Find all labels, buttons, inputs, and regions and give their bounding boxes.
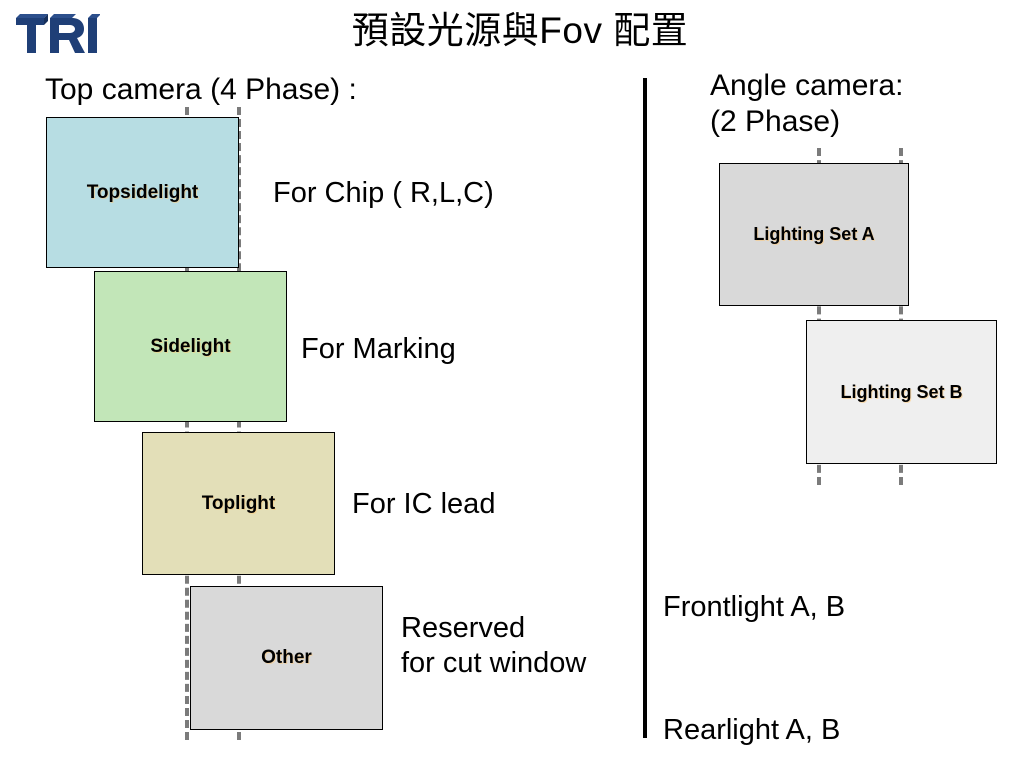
lightbox-topsidelight[interactable]: Topsidelight [46,117,239,268]
annotation-reserved-for-cut-window: Reserved for cut window [401,611,586,681]
column-divider [643,78,647,738]
tri-logo [14,12,100,60]
lightbox-lighting-set-b[interactable]: Lighting Set B [806,320,997,464]
top-camera-heading: Top camera (4 Phase) : [45,72,357,108]
lightbox-label: Other [261,647,312,669]
angle-camera-heading: Angle camera: (2 Phase) [710,68,903,140]
tri-logo-icon [14,12,100,60]
lightbox-label: Toplight [202,493,276,515]
lightbox-lighting-set-a[interactable]: Lighting Set A [719,163,909,306]
lightbox-label: Lighting Set B [841,382,963,403]
light-list-item: Rearlight A, B [663,710,939,751]
angle-camera-light-list: Frontlight A, B Rearlight A, B Leftlight… [663,505,939,767]
annotation-for-chip: For Chip ( R,L,C) [273,176,494,211]
lightbox-toplight[interactable]: Toplight [142,432,335,575]
lightbox-label: Topsidelight [87,182,199,204]
lightbox-sidelight[interactable]: Sidelight [94,271,287,422]
annotation-for-ic-lead: For IC lead [352,487,495,522]
light-list-item: Frontlight A, B [663,587,939,628]
lightbox-label: Lighting Set A [753,224,874,245]
lightbox-other[interactable]: Other [190,586,383,730]
page-title: 預設光源與Fov 配置 [290,8,750,54]
annotation-for-marking: For Marking [301,332,456,367]
slide-canvas: 預設光源與Fov 配置 Top camera (4 Phase) : Angle… [0,0,1026,767]
lightbox-label: Sidelight [150,336,230,358]
